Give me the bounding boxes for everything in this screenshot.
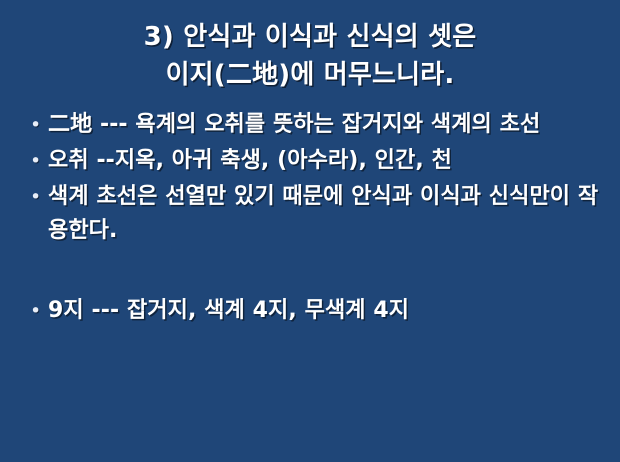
bullet-marker-icon: • — [30, 180, 48, 214]
bullet-text: 오취 --지옥, 아귀 축생, (아수라), 인간, 천 — [48, 144, 606, 178]
title-line-1: 3) 안식과 이식과 신식의 셋은 — [0, 18, 620, 56]
bullet-item: • 9지 --- 잡거지, 색계 4지, 무색계 4지 — [30, 294, 606, 328]
bullet-marker-icon: • — [30, 294, 48, 328]
slide-title: 3) 안식과 이식과 신식의 셋은 이지(二地)에 머무느니라. — [0, 18, 620, 94]
bullet-item: • 오취 --지옥, 아귀 축생, (아수라), 인간, 천 — [30, 144, 606, 178]
title-line-2: 이지(二地)에 머무느니라. — [0, 56, 620, 94]
slide-body: • 二地 --- 욕계의 오취를 뜻하는 잡거지와 색계의 초선 • 오취 --… — [30, 108, 606, 330]
bullet-item-blank — [30, 250, 606, 292]
bullet-marker-icon: • — [30, 108, 48, 142]
bullet-text: 9지 --- 잡거지, 색계 4지, 무색계 4지 — [48, 294, 606, 328]
slide-canvas: 3) 안식과 이식과 신식의 셋은 이지(二地)에 머무느니라. • 二地 --… — [0, 0, 620, 462]
bullet-text: 二地 --- 욕계의 오취를 뜻하는 잡거지와 색계의 초선 — [48, 108, 606, 142]
bullet-text: 색계 초선은 선열만 있기 때문에 안식과 이식과 신식만이 작용한다. — [48, 180, 606, 248]
bullet-marker-icon: • — [30, 144, 48, 178]
bullet-item: • 二地 --- 욕계의 오취를 뜻하는 잡거지와 색계의 초선 — [30, 108, 606, 142]
bullet-item: • 색계 초선은 선열만 있기 때문에 안식과 이식과 신식만이 작용한다. — [30, 180, 606, 248]
